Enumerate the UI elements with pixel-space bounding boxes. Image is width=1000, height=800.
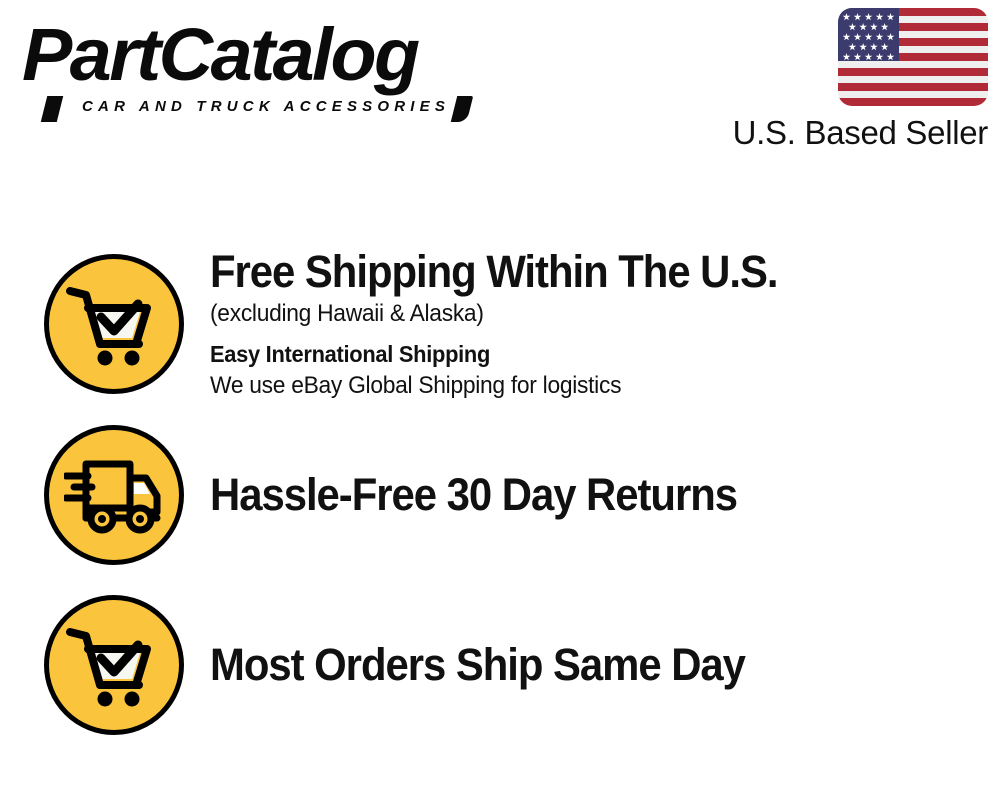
us-flag-icon — [838, 8, 988, 106]
feature-subtitle-logistics: We use eBay Global Shipping for logistic… — [210, 370, 942, 402]
flag-stripe — [838, 98, 988, 106]
flag-star-icon — [881, 23, 889, 31]
flag-star-icon — [843, 33, 851, 41]
flag-star-icon — [848, 43, 856, 51]
flag-stripe — [838, 61, 988, 69]
logo-slash-left-icon — [41, 96, 63, 122]
flag-star-icon — [865, 33, 873, 41]
flag-star-row — [841, 53, 896, 61]
feature-title: Hassle-Free 30 Day Returns — [210, 470, 926, 520]
brand-tagline: CAR AND TRUCK ACCESSORIES — [82, 98, 450, 115]
feature-title: Free Shipping Within The U.S. — [210, 247, 926, 297]
flag-star-row — [841, 13, 896, 21]
feature-row: Hassle-Free 30 Day Returns — [0, 410, 1000, 580]
flag-star-icon — [859, 43, 867, 51]
us-based-seller-badge: U.S. Based Seller — [708, 8, 988, 151]
logo-slash-right-icon — [451, 96, 473, 122]
flag-star-row — [841, 23, 896, 31]
flag-star-icon — [876, 33, 884, 41]
flag-star-icon — [887, 13, 895, 21]
flag-star-icon — [870, 43, 878, 51]
feature-text-block: Hassle-Free 30 Day Returns — [210, 470, 1000, 520]
flag-star-icon — [843, 53, 851, 61]
flag-canton — [838, 8, 899, 61]
flag-star-icon — [854, 53, 862, 61]
flag-star-icon — [854, 33, 862, 41]
feature-title: Most Orders Ship Same Day — [210, 640, 926, 690]
delivery-truck-icon — [44, 425, 184, 565]
flag-star-row — [841, 33, 896, 41]
flag-star-icon — [876, 13, 884, 21]
flag-star-icon — [859, 23, 867, 31]
flag-star-icon — [870, 23, 878, 31]
feature-row: Most Orders Ship Same Day — [0, 580, 1000, 750]
feature-subtitle-exclusions: (excluding Hawaii & Alaska) — [210, 298, 942, 330]
flag-star-icon — [843, 13, 851, 21]
feature-text-block: Free Shipping Within The U.S. (excluding… — [210, 247, 1000, 402]
feature-row: Free Shipping Within The U.S. (excluding… — [0, 238, 1000, 410]
brand-logo[interactable]: PartCatalog CAR AND TRUCK ACCESSORIES — [22, 18, 492, 118]
flag-star-icon — [881, 43, 889, 51]
shopping-cart-check-icon — [44, 595, 184, 735]
flag-stripe — [838, 68, 988, 76]
flag-stripe — [838, 83, 988, 91]
flag-star-icon — [887, 53, 895, 61]
flag-star-icon — [876, 53, 884, 61]
feature-subtitle-international: Easy International Shipping — [210, 338, 942, 370]
flag-star-icon — [848, 23, 856, 31]
shopping-cart-check-icon — [44, 254, 184, 394]
page-header: PartCatalog CAR AND TRUCK ACCESSORIES — [0, 0, 1000, 170]
flag-star-row — [841, 43, 896, 51]
flag-star-icon — [887, 33, 895, 41]
flag-stripe — [838, 76, 988, 84]
brand-tagline-row: CAR AND TRUCK ACCESSORIES — [82, 98, 482, 115]
flag-star-icon — [865, 13, 873, 21]
feature-text-block: Most Orders Ship Same Day — [210, 640, 1000, 690]
flag-stripe — [838, 91, 988, 99]
flag-star-icon — [854, 13, 862, 21]
brand-wordmark: PartCatalog — [22, 18, 501, 92]
flag-star-icon — [865, 53, 873, 61]
us-based-seller-label: U.S. Based Seller — [708, 115, 988, 151]
